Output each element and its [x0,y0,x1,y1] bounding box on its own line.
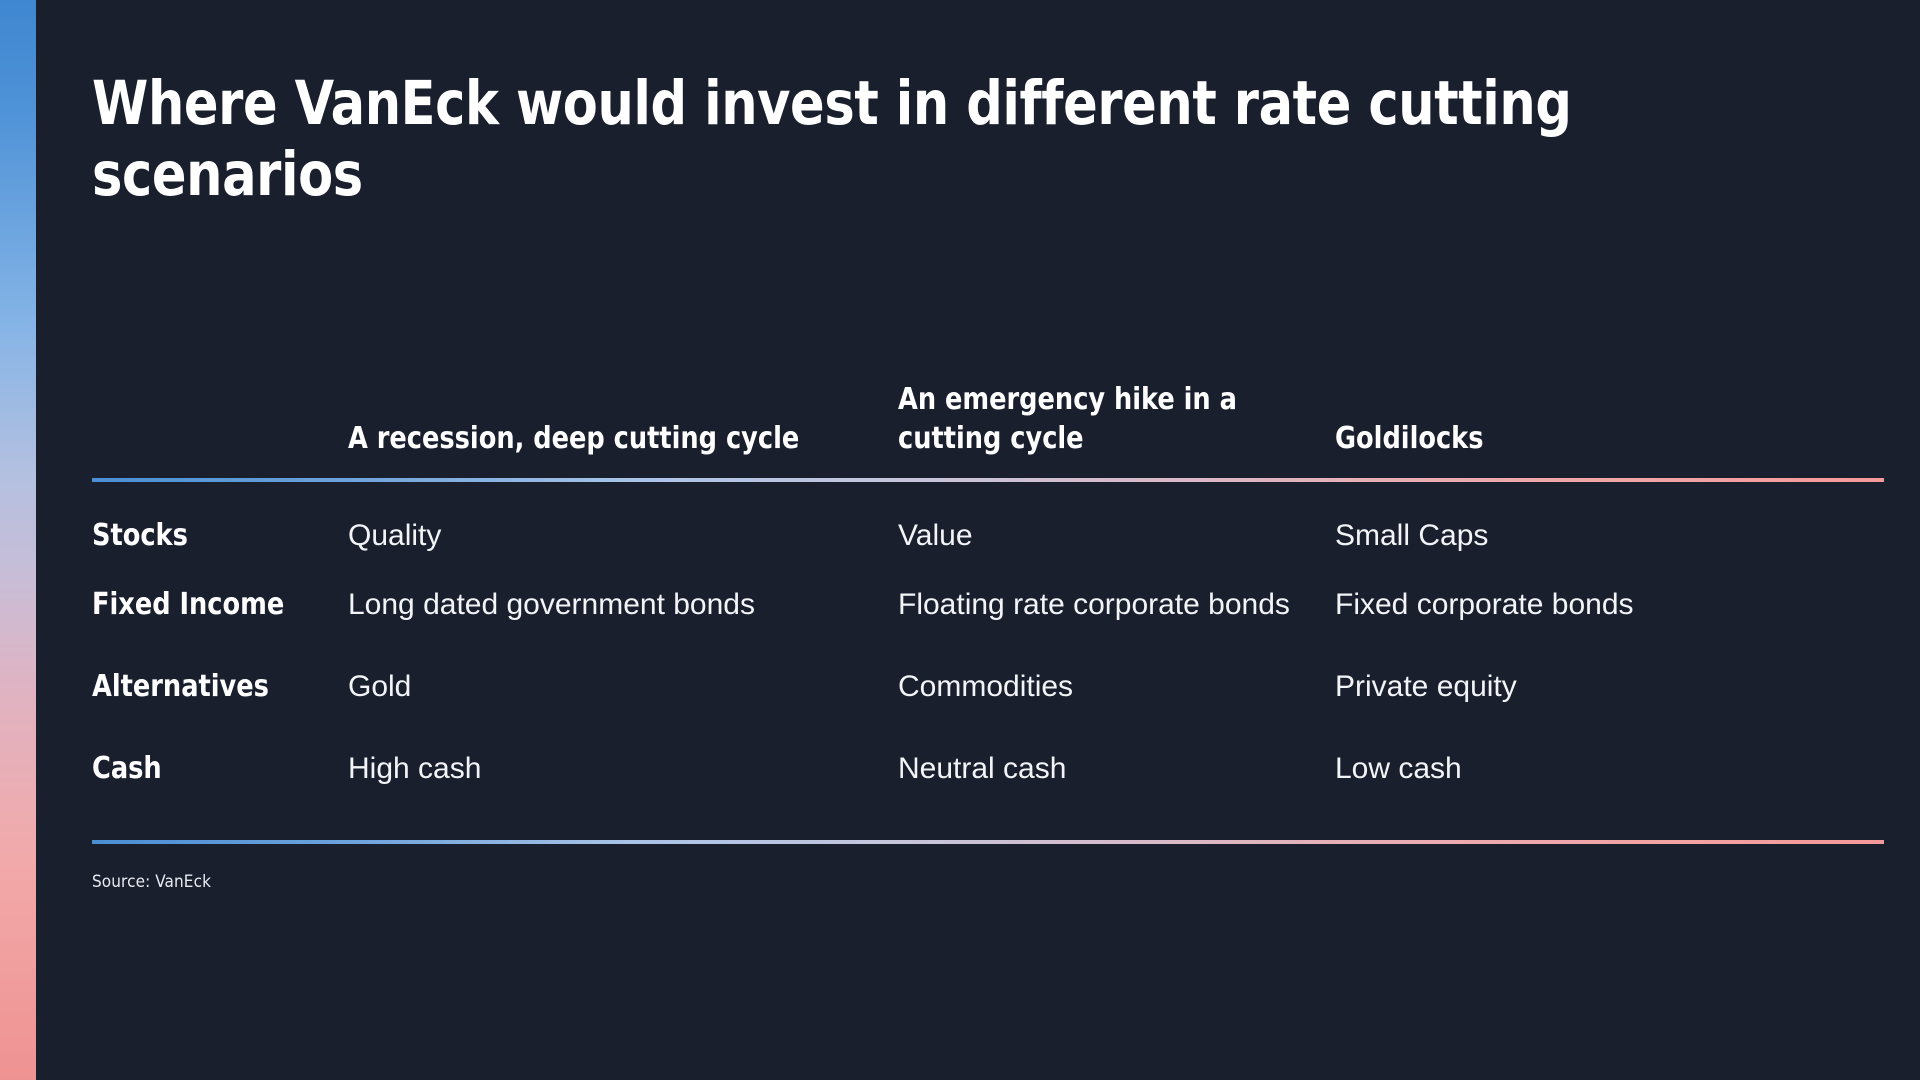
cell-cash-emergency-hike: Neutral cash [898,728,1335,810]
source-note: Source: VanEck [92,872,211,892]
cell-alternatives-goldilocks: Private equity [1335,646,1884,728]
column-header-goldilocks-label: Goldilocks [1335,420,1834,458]
table-header-row: A recession, deep cutting cycle An emerg… [92,330,1884,478]
gradient-divider-bottom [92,840,1884,844]
cell-alternatives-recession: Gold [348,646,898,728]
left-gradient-accent-bar [0,0,36,1080]
cell-cash-goldilocks: Low cash [1335,728,1884,810]
table-row: Stocks Quality Value Small Caps [92,482,1884,564]
column-header-emergency-hike-label: An emergency hike in a cutting cycle [898,381,1290,458]
column-header-emergency-hike: An emergency hike in a cutting cycle [898,330,1335,478]
row-label-cash-text: Cash [92,751,162,787]
table-header: A recession, deep cutting cycle An emerg… [92,330,1884,482]
row-label-fixed-income-text: Fixed Income [92,587,284,623]
column-header-recession-label: A recession, deep cutting cycle [348,420,848,458]
row-label-alternatives-text: Alternatives [92,669,269,705]
cell-stocks-emergency-hike: Value [898,482,1335,564]
cell-fixed-income-recession: Long dated government bonds [348,564,898,646]
slide-canvas: Where VanEck would invest in different r… [36,0,1920,1080]
table-row: Alternatives Gold Commodities Private eq… [92,646,1884,728]
row-label-fixed-income: Fixed Income [92,564,348,646]
cell-stocks-goldilocks: Small Caps [1335,482,1884,564]
divider-bottom-cell [92,840,1884,844]
divider-row-bottom [92,840,1884,844]
cell-fixed-income-goldilocks: Fixed corporate bonds [1335,564,1884,646]
table-row: Fixed Income Long dated government bonds… [92,564,1884,646]
cell-stocks-recession: Quality [348,482,898,564]
column-header-recession: A recession, deep cutting cycle [348,330,898,478]
row-label-stocks: Stocks [92,482,348,564]
row-label-alternatives: Alternatives [92,646,348,728]
cell-fixed-income-emergency-hike: Floating rate corporate bonds [898,564,1335,646]
column-header-goldilocks: Goldilocks [1335,330,1884,478]
row-label-stocks-text: Stocks [92,518,188,554]
table-body: Stocks Quality Value Small Caps Fixed In… [92,482,1884,844]
table-corner-cell [92,330,348,478]
table-spacer-cell [92,810,1884,840]
cell-cash-recession: High cash [348,728,898,810]
table-spacer-row [92,810,1884,840]
cell-alternatives-emergency-hike: Commodities [898,646,1335,728]
row-label-cash: Cash [92,728,348,810]
table-row: Cash High cash Neutral cash Low cash [92,728,1884,810]
scenario-comparison-table: A recession, deep cutting cycle An emerg… [92,330,1884,844]
page-title: Where VanEck would invest in different r… [92,68,1673,211]
